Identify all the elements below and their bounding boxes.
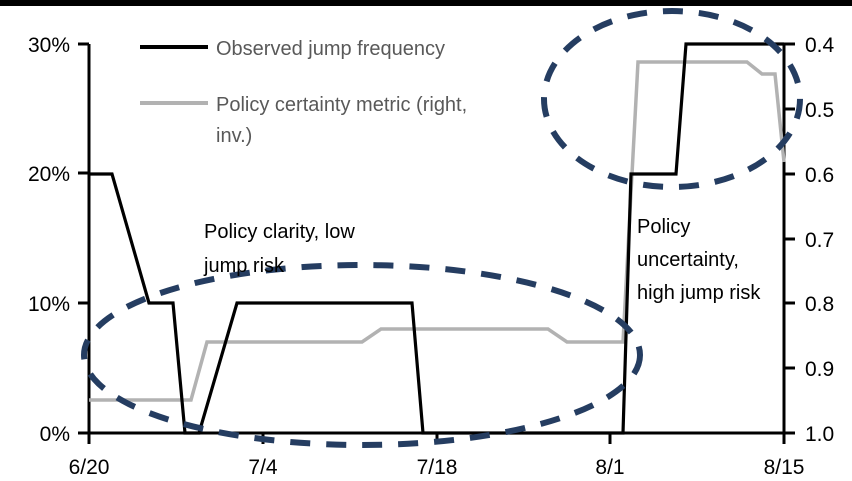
left-axis	[78, 44, 89, 433]
annotation-policy-clarity-line1: Policy clarity, low	[204, 221, 355, 243]
right-tick-label-0-7: 0.7	[805, 229, 834, 252]
legend: Observed jump frequency Policy certainty…	[140, 38, 467, 147]
right-tick-label-0-4: 0.4	[805, 34, 835, 57]
x-tick-label-0: 6/20	[69, 456, 110, 479]
legend-label-policy-certainty-cont: inv.)	[216, 125, 252, 147]
highlight-ellipse-high-risk	[544, 11, 800, 187]
chart-container: Observed jump frequency Policy certainty…	[0, 0, 852, 481]
annotation-policy-uncertainty-line1: Policy	[637, 216, 690, 238]
legend-label-observed-jump-frequency: Observed jump frequency	[216, 38, 445, 60]
x-tick-label-4: 8/15	[764, 456, 805, 479]
right-tick-label-0-8: 0.8	[805, 293, 834, 316]
left-tick-label-0: 0%	[40, 423, 70, 446]
annotation-policy-uncertainty-line2: uncertainty,	[637, 249, 739, 271]
annotation-policy-clarity-line2: jump risk	[203, 255, 285, 277]
x-axis-tick-labels: 6/20 7/4 7/18 8/1 8/15	[69, 456, 805, 479]
annotation-policy-uncertainty-line3: high jump risk	[637, 282, 761, 304]
x-tick-label-2: 7/18	[417, 456, 458, 479]
x-tick-label-3: 8/1	[595, 456, 624, 479]
annotation-policy-clarity: Policy clarity, low jump risk	[203, 221, 355, 277]
left-tick-label-10: 10%	[28, 293, 70, 316]
right-axis	[784, 44, 795, 433]
right-axis-tick-labels: 0.4 0.5 0.6 0.7 0.8 0.9 1.0	[805, 34, 835, 446]
right-tick-label-0-9: 0.9	[805, 358, 834, 381]
right-tick-label-0-5: 0.5	[805, 99, 834, 122]
highlight-ellipse-low-risk	[84, 265, 640, 445]
legend-label-policy-certainty: Policy certainty metric (right,	[216, 94, 467, 116]
left-tick-label-30: 30%	[28, 34, 70, 57]
right-tick-label-0-6: 0.6	[805, 164, 834, 187]
left-tick-label-20: 20%	[28, 163, 70, 186]
left-axis-tick-labels: 30% 20% 10% 0%	[28, 34, 70, 446]
annotation-policy-uncertainty: Policy uncertainty, high jump risk	[637, 216, 761, 304]
x-tick-label-1: 7/4	[248, 456, 278, 479]
right-tick-label-1-0: 1.0	[805, 423, 834, 446]
chart-plot-area: Observed jump frequency Policy certainty…	[0, 0, 852, 481]
